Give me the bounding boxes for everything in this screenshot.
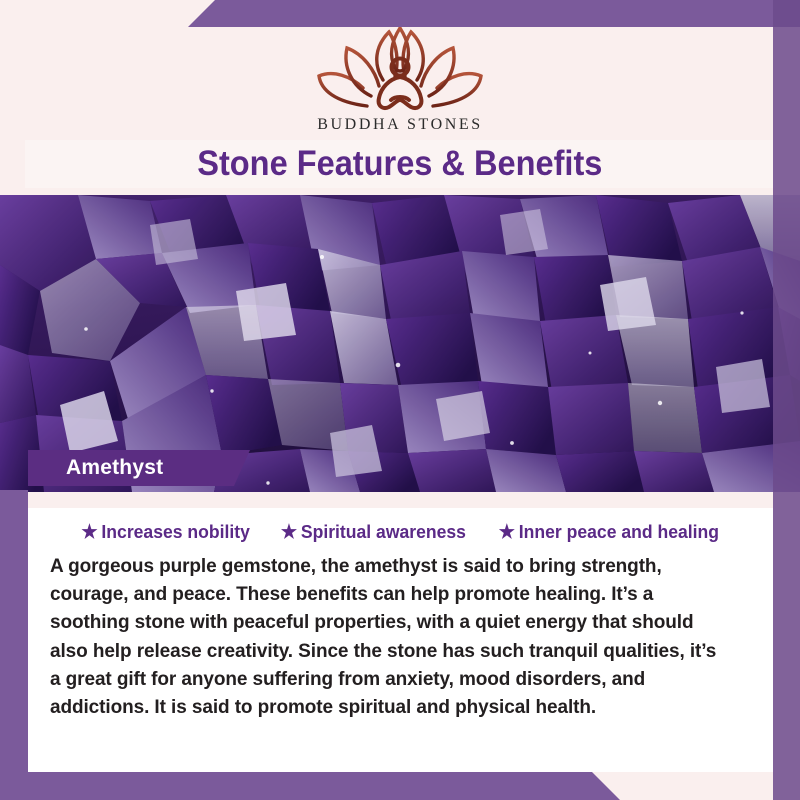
star-icon: ★ — [498, 523, 514, 542]
feature-label: Inner peace and healing — [518, 521, 718, 543]
page-title: Stone Features & Benefits — [197, 144, 602, 184]
feature-label: Increases nobility — [101, 521, 249, 543]
stone-name-banner: Amethyst — [28, 450, 250, 486]
brand-name: BUDDHA STONES — [0, 116, 800, 134]
stone-name: Amethyst — [28, 456, 163, 480]
lotus-meditation-figure-icon — [305, 22, 495, 114]
feature-item-spiritual-awareness: ★ Spiritual awareness — [281, 521, 466, 543]
stone-description: A gorgeous purple gemstone, the amethyst… — [50, 552, 730, 721]
feature-item-increases-nobility: ★ Increases nobility — [81, 521, 249, 543]
star-icon: ★ — [281, 523, 297, 542]
star-icon: ★ — [81, 523, 97, 542]
content-panel: ★ Increases nobility ★ Spiritual awarene… — [28, 508, 773, 772]
brand-logo: BUDDHA STONES — [0, 22, 800, 134]
frame-band-left — [0, 490, 28, 800]
feature-item-inner-peace-and-healing: ★ Inner peace and healing — [498, 521, 718, 543]
features-list: ★ Increases nobility ★ Spiritual awarene… — [50, 521, 751, 543]
frame-band-bottom — [0, 772, 800, 800]
photo-bottom-strip — [0, 492, 800, 508]
title-bar: Stone Features & Benefits — [25, 140, 775, 188]
amethyst-crystal-cluster-photo — [0, 195, 800, 492]
frame-band-right — [773, 0, 800, 800]
feature-label: Spiritual awareness — [301, 521, 466, 543]
infographic-page: BUDDHA STONES Stone Features & Benefits — [0, 0, 800, 800]
